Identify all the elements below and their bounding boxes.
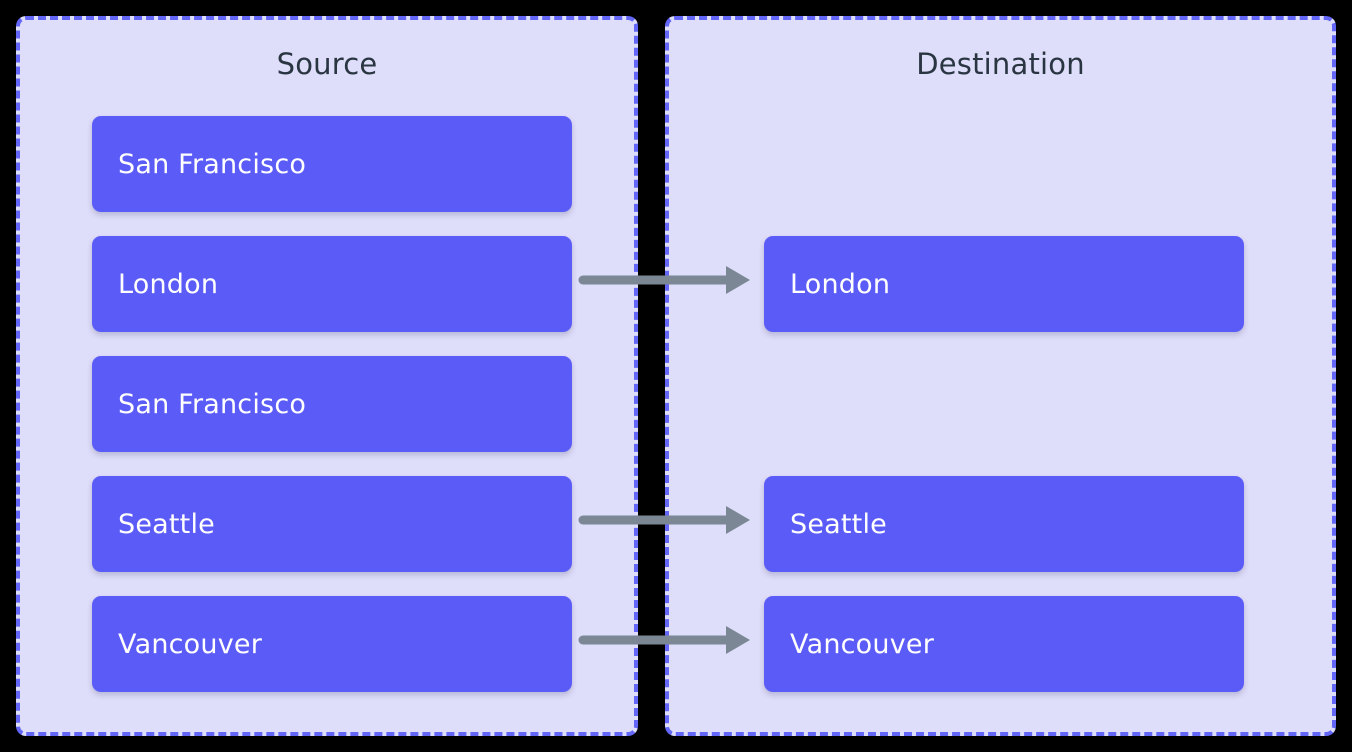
destination-panel: Destination London Seattle xyxy=(665,16,1336,736)
source-node-san-francisco-2[interactable]: San Francisco xyxy=(92,356,572,452)
source-row-1: London xyxy=(20,236,634,332)
destination-node-label: Vancouver xyxy=(764,631,934,658)
source-panel: Source San Francisco London San Francisc… xyxy=(16,16,638,736)
source-node-label: San Francisco xyxy=(92,151,306,178)
diagram-canvas: Source San Francisco London San Francisc… xyxy=(0,0,1352,752)
source-node-london[interactable]: London xyxy=(92,236,572,332)
source-node-san-francisco-1[interactable]: San Francisco xyxy=(92,116,572,212)
source-row-3: Seattle xyxy=(20,476,634,572)
source-node-label: San Francisco xyxy=(92,391,306,418)
destination-row-4: Vancouver xyxy=(669,596,1332,692)
destination-node-seattle[interactable]: Seattle xyxy=(764,476,1244,572)
source-row-4: Vancouver xyxy=(20,596,634,692)
source-node-vancouver[interactable]: Vancouver xyxy=(92,596,572,692)
destination-node-label: Seattle xyxy=(764,511,887,538)
source-node-list: San Francisco London San Francisco Seatt… xyxy=(20,20,634,732)
destination-row-1: London xyxy=(669,236,1332,332)
destination-node-label: London xyxy=(764,271,890,298)
source-node-seattle[interactable]: Seattle xyxy=(92,476,572,572)
source-row-2: San Francisco xyxy=(20,356,634,452)
destination-row-3: Seattle xyxy=(669,476,1332,572)
source-row-0: San Francisco xyxy=(20,116,634,212)
destination-node-vancouver[interactable]: Vancouver xyxy=(764,596,1244,692)
source-node-label: London xyxy=(92,271,218,298)
source-node-label: Seattle xyxy=(92,511,215,538)
destination-node-london[interactable]: London xyxy=(764,236,1244,332)
source-node-label: Vancouver xyxy=(92,631,262,658)
destination-node-list: London Seattle Vancouver xyxy=(669,20,1332,732)
destination-row-2 xyxy=(669,356,1332,452)
destination-row-0 xyxy=(669,116,1332,212)
